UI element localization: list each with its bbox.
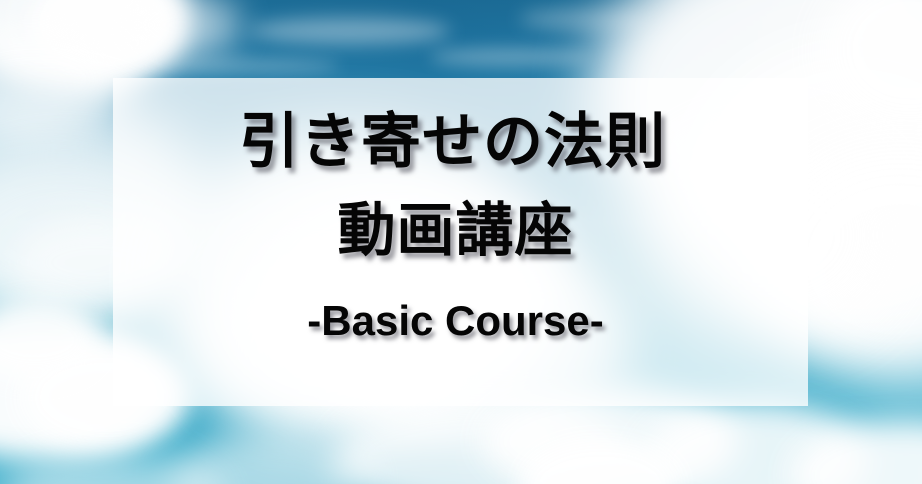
cloud-wisp-c bbox=[520, 8, 650, 30]
cloud-wisp-a bbox=[250, 18, 450, 44]
title-text-block: 引き寄せの法則 動画講座 -Basic Course- bbox=[113, 78, 808, 406]
cloud-wisp-b bbox=[430, 48, 590, 66]
title-card-image: 引き寄せの法則 動画講座 -Basic Course- bbox=[0, 0, 922, 484]
cloud-wisp-d bbox=[150, 58, 340, 74]
headline-line-2: 動画講座 bbox=[337, 199, 573, 264]
headline-line-1: 引き寄せの法則 bbox=[239, 108, 666, 175]
subheadline: -Basic Course- bbox=[307, 298, 603, 344]
